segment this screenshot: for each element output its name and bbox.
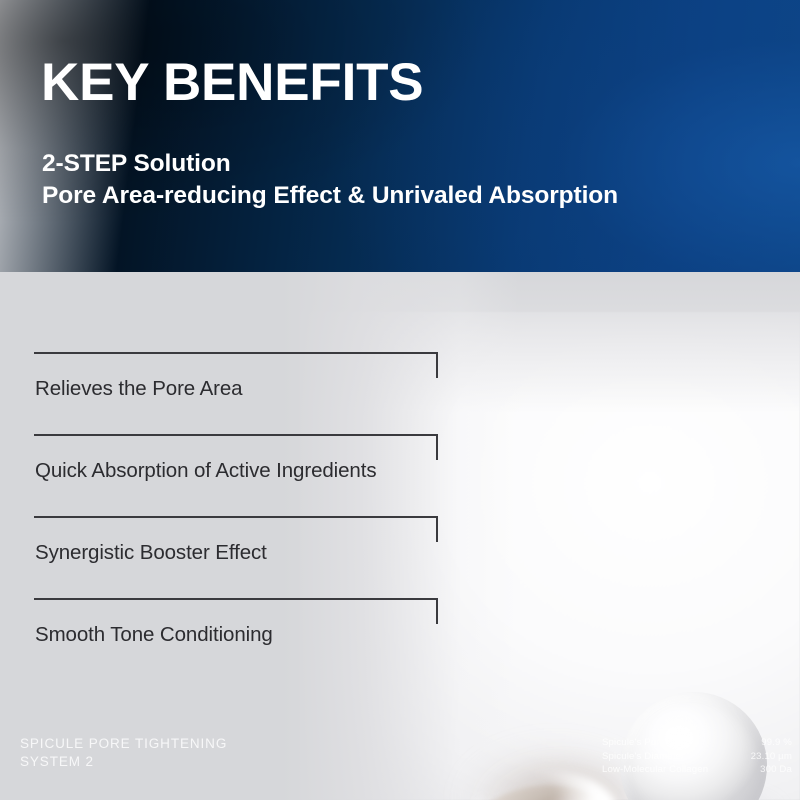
- spec-label: Spicule's Diameter: [602, 750, 684, 764]
- benefit-bracket-tick: [436, 352, 438, 378]
- header-banner: KEY BENEFITS 2-STEP Solution Pore Area-r…: [0, 0, 800, 272]
- spec-value: 23.10 µm: [751, 750, 792, 764]
- header-subtitle: 2-STEP Solution Pore Area-reducing Effec…: [42, 148, 618, 212]
- benefit-bracket-tick: [436, 516, 438, 542]
- page-title: KEY BENEFITS: [41, 56, 423, 109]
- spec-row: Spicule's Purity 99.9 %: [602, 736, 792, 750]
- benefit-rule: [34, 516, 438, 518]
- product-name-line-2: SYSTEM 2: [20, 753, 227, 771]
- benefit-bracket-tick: [436, 434, 438, 460]
- benefit-label: Synergistic Booster Effect: [35, 543, 267, 564]
- header-subtitle-line-2: Pore Area-reducing Effect & Unrivaled Ab…: [42, 180, 618, 212]
- benefit-rule: [34, 598, 438, 600]
- benefit-label: Quick Absorption of Active Ingredients: [35, 461, 376, 482]
- benefit-label: Relieves the Pore Area: [35, 379, 242, 400]
- spec-value: 300 Da: [760, 763, 792, 777]
- spec-label: Spicule's Purity: [602, 736, 670, 750]
- benefit-rule: [34, 434, 438, 436]
- spec-table: Spicule's Purity 99.9 % Spicule's Diamet…: [602, 736, 792, 777]
- key-benefits-poster: KEY BENEFITS 2-STEP Solution Pore Area-r…: [0, 0, 800, 800]
- product-name-line-1: SPICULE PORE TIGHTENING: [20, 735, 227, 753]
- spec-row: Spicule's Diameter 23.10 µm: [602, 750, 792, 764]
- benefit-rule: [34, 352, 438, 354]
- benefit-bracket-tick: [436, 598, 438, 624]
- header-vignette-overlay: [0, 0, 800, 272]
- header-subtitle-line-1: 2-STEP Solution: [42, 148, 618, 180]
- spec-value: 99.9 %: [761, 736, 792, 750]
- spec-row: Low-Molecular Collagen 300 Da: [602, 763, 792, 777]
- product-name-footer: SPICULE PORE TIGHTENING SYSTEM 2: [20, 735, 227, 771]
- spec-label: Low-Molecular Collagen: [602, 763, 708, 777]
- benefit-label: Smooth Tone Conditioning: [35, 625, 273, 646]
